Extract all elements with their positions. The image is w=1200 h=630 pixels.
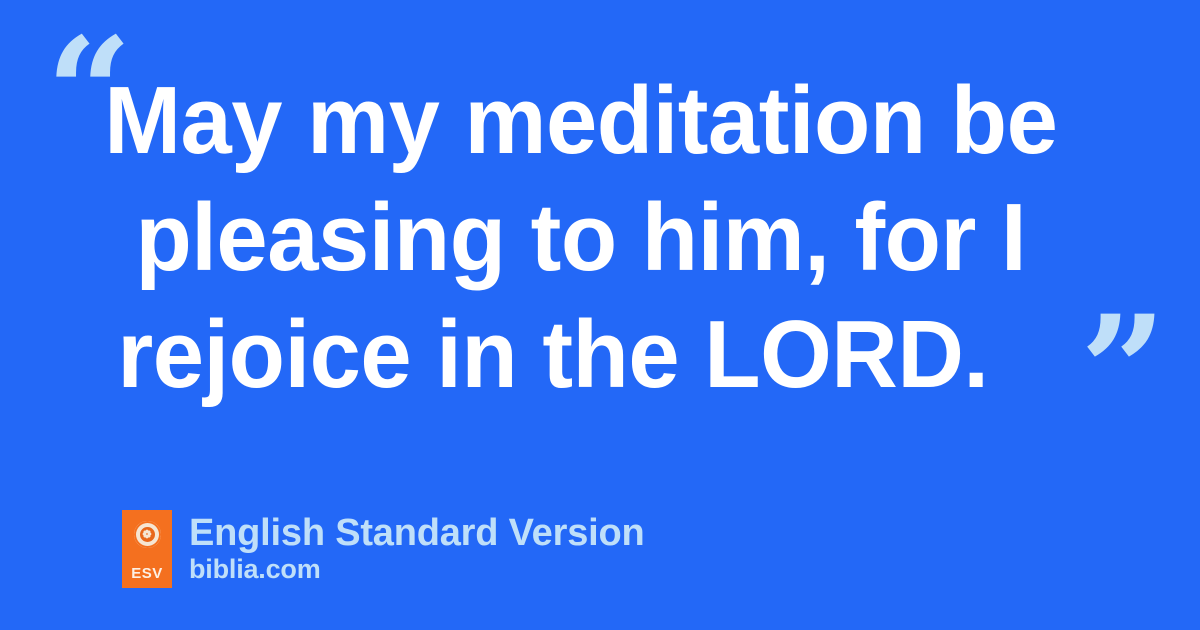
site-url-label: biblia.com [189,554,645,584]
bible-version-name: English Standard Version [189,512,645,554]
esv-seal-icon: ❁ [134,521,161,548]
verse-line-1: May my meditation be [96,62,1066,179]
verse-text: May my meditation be pleasing to him, fo… [96,62,1066,413]
verse-line-2: pleasing to him, for I [96,179,1066,296]
esv-seal-monogram: ❁ [142,529,151,540]
verse-line-3: rejoice in the LORD. [96,296,1066,413]
esv-logo: ❁ ESV [122,510,172,588]
attribution-text: English Standard Version biblia.com [189,510,645,584]
verse-share-card: “ May my meditation be pleasing to him, … [0,0,1200,630]
closing-quote-icon: ” [1080,296,1164,446]
esv-abbreviation-label: ESV [131,566,163,581]
attribution: ❁ ESV English Standard Version biblia.co… [122,510,645,588]
